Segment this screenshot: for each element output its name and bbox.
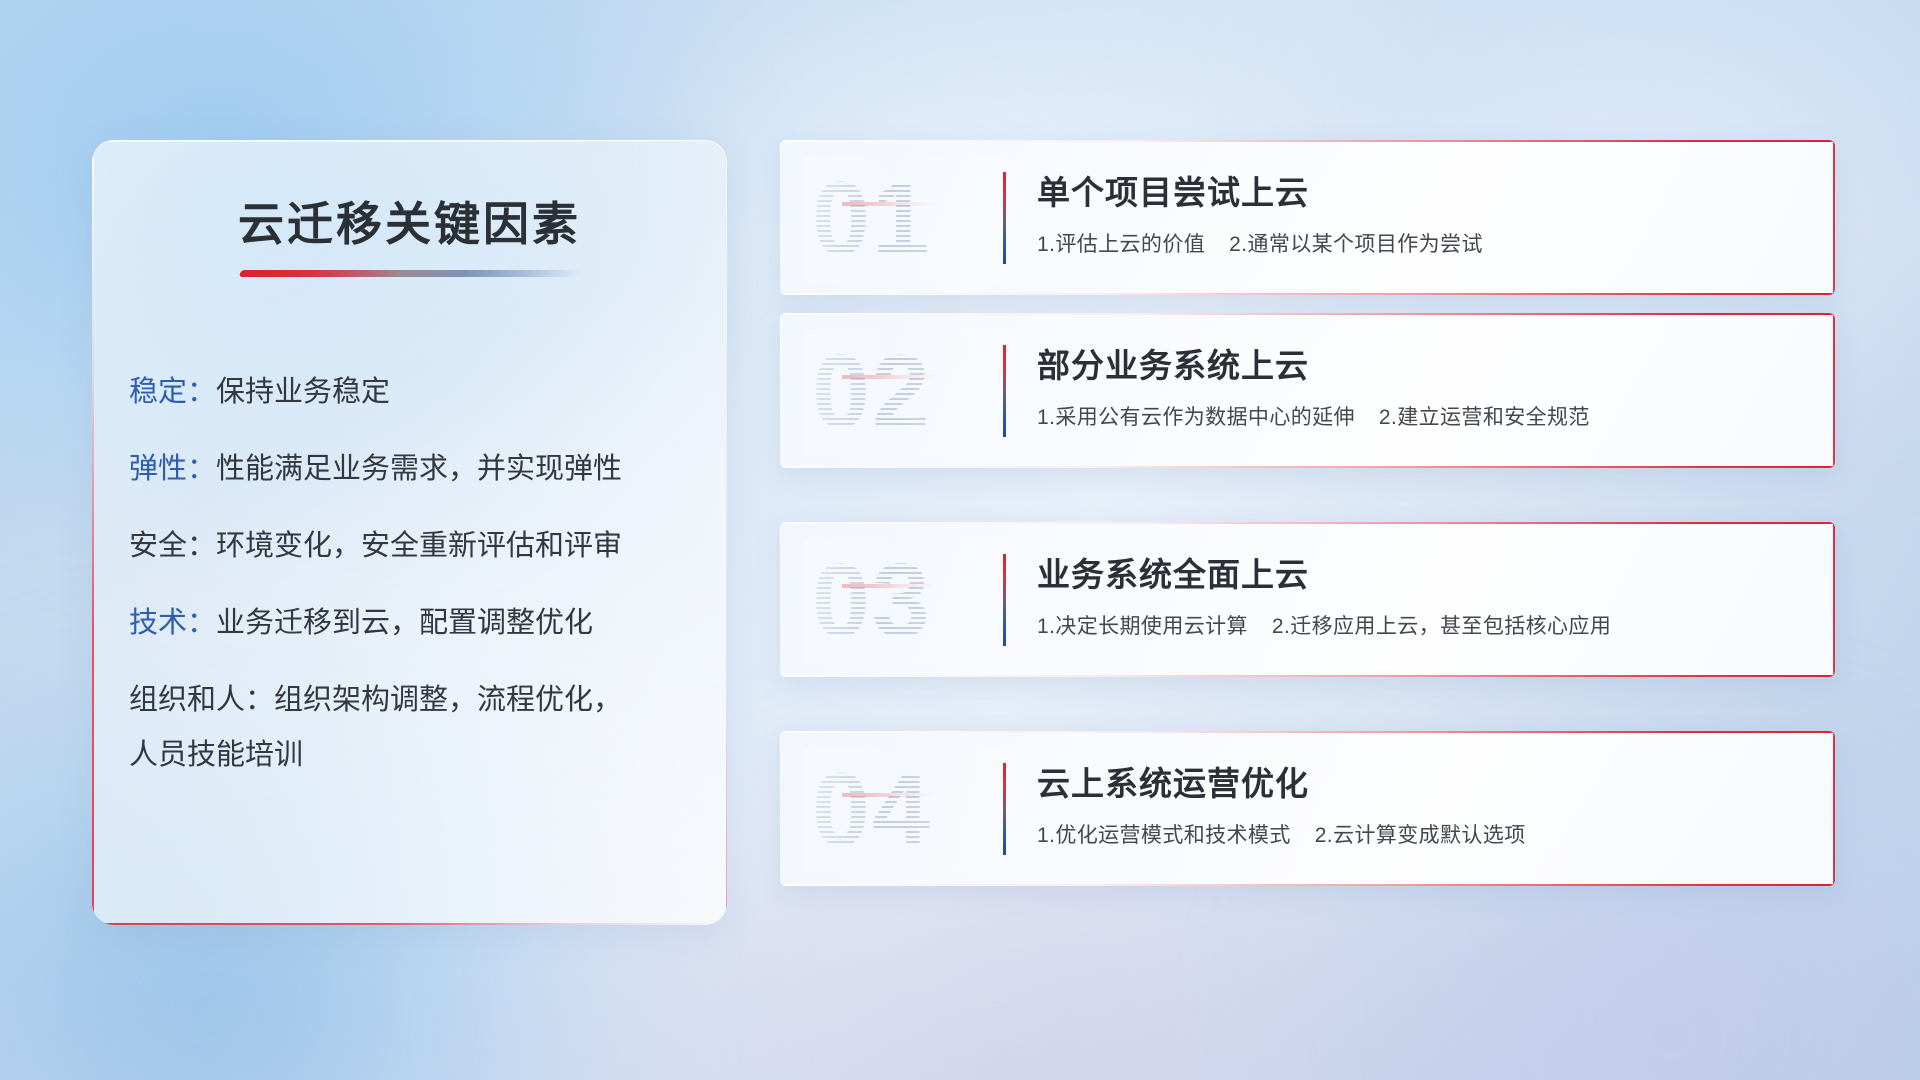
panel-edge-left-accent (92, 140, 94, 925)
card-edge-top (780, 731, 1835, 733)
card-edge-right (1833, 731, 1835, 886)
stage-points: 1.评估上云的价值2.通常以某个项目作为尝试 (1037, 228, 1483, 258)
stage-card-04[interactable]: 04 云上系统运营优化 1.优化运营模式和技术模式2.云计算变成默认选项 (780, 731, 1835, 886)
card-edge-bottom (780, 675, 1835, 677)
card-edge-top (780, 522, 1835, 524)
panel-edge-right (726, 140, 727, 925)
card-edge-right (1833, 522, 1835, 677)
stage-point-1: 1.决定长期使用云计算 (1037, 615, 1248, 638)
stage-number-03: 03 (812, 542, 987, 660)
list-item-key: 弹性： (129, 453, 216, 485)
stage-heading: 云上系统运营优化 (1037, 757, 1309, 805)
list-item: 技术：业务迁移到云，配置调整优化 (129, 609, 697, 638)
card-edge-bottom (780, 884, 1835, 886)
card-edge-right (1833, 313, 1835, 468)
key-factors-list: 稳定：保持业务稳定 弹性：性能满足业务需求，并实现弹性 安全：环境变化，安全重新… (129, 378, 697, 818)
stage-number-04: 04 (812, 751, 987, 869)
panel-title: 云迁移关键因素 (92, 188, 727, 254)
stage-point-1: 1.评估上云的价值 (1037, 233, 1205, 256)
list-item-value: 业务迁移到云，配置调整优化 (216, 607, 593, 639)
stage-heading: 部分业务系统上云 (1037, 339, 1309, 387)
card-edge-top (780, 140, 1835, 142)
card-edge-left (780, 140, 781, 295)
stage-point-2: 2.迁移应用上云，甚至包括核心应用 (1272, 615, 1611, 638)
key-factors-panel: 云迁移关键因素 稳定：保持业务稳定 弹性：性能满足业务需求，并实现弹性 安全：环… (92, 140, 727, 925)
card-edge-right (1833, 140, 1835, 295)
stage-card-01[interactable]: 01 单个项目尝试上云 1.评估上云的价值2.通常以某个项目作为尝试 (780, 140, 1835, 295)
list-item-value: 保持业务稳定 (216, 376, 390, 408)
stage-point-2: 2.云计算变成默认选项 (1315, 824, 1526, 847)
card-edge-bottom (780, 466, 1835, 468)
stage-number-02: 02 (812, 333, 987, 451)
stage-heading: 业务系统全面上云 (1037, 548, 1309, 596)
card-edge-left (780, 731, 781, 886)
stage-card-03[interactable]: 03 业务系统全面上云 1.决定长期使用云计算2.迁移应用上云，甚至包括核心应用 (780, 522, 1835, 677)
list-item-key: 组织和人： (129, 684, 274, 716)
stage-points: 1.决定长期使用云计算2.迁移应用上云，甚至包括核心应用 (1037, 610, 1611, 640)
card-divider-bar (1003, 763, 1006, 855)
stage-number-01: 01 (812, 160, 987, 278)
card-edge-left (780, 522, 781, 677)
list-item-value: 环境变化，安全重新评估和评审 (216, 530, 622, 562)
panel-edge-top (92, 140, 727, 142)
list-item-key: 稳定： (129, 376, 216, 408)
list-item-continuation: 人员技能培训 (129, 741, 697, 770)
card-edge-left (780, 313, 781, 468)
list-item: 安全：环境变化，安全重新评估和评审 (129, 532, 697, 561)
stage-points: 1.优化运营模式和技术模式2.云计算变成默认选项 (1037, 819, 1526, 849)
list-item: 弹性：性能满足业务需求，并实现弹性 (129, 455, 697, 484)
panel-title-underline (239, 270, 581, 277)
stage-heading: 单个项目尝试上云 (1037, 166, 1309, 214)
card-edge-bottom (780, 293, 1835, 295)
stage-point-2: 2.通常以某个项目作为尝试 (1229, 233, 1483, 256)
list-item-value: 人员技能培训 (129, 739, 303, 771)
card-edge-top (780, 313, 1835, 315)
card-divider-bar (1003, 172, 1006, 264)
list-item: 稳定：保持业务稳定 (129, 378, 697, 407)
panel-edge-bottom-accent (92, 923, 727, 925)
card-divider-bar (1003, 345, 1006, 437)
stage-point-1: 1.采用公有云作为数据中心的延伸 (1037, 406, 1355, 429)
card-divider-bar (1003, 554, 1006, 646)
stage-points: 1.采用公有云作为数据中心的延伸2.建立运营和安全规范 (1037, 401, 1590, 431)
stage-point-1: 1.优化运营模式和技术模式 (1037, 824, 1291, 847)
stage-card-02[interactable]: 02 部分业务系统上云 1.采用公有云作为数据中心的延伸2.建立运营和安全规范 (780, 313, 1835, 468)
stage-point-2: 2.建立运营和安全规范 (1379, 406, 1590, 429)
list-item-value: 性能满足业务需求，并实现弹性 (216, 453, 622, 485)
slide-stage: 云迁移关键因素 稳定：保持业务稳定 弹性：性能满足业务需求，并实现弹性 安全：环… (0, 0, 1920, 1080)
list-item-value: 组织架构调整，流程优化， (274, 684, 622, 716)
list-item-key: 技术： (129, 607, 216, 639)
list-item-key: 安全： (129, 530, 216, 562)
list-item: 组织和人：组织架构调整，流程优化， (129, 686, 697, 715)
